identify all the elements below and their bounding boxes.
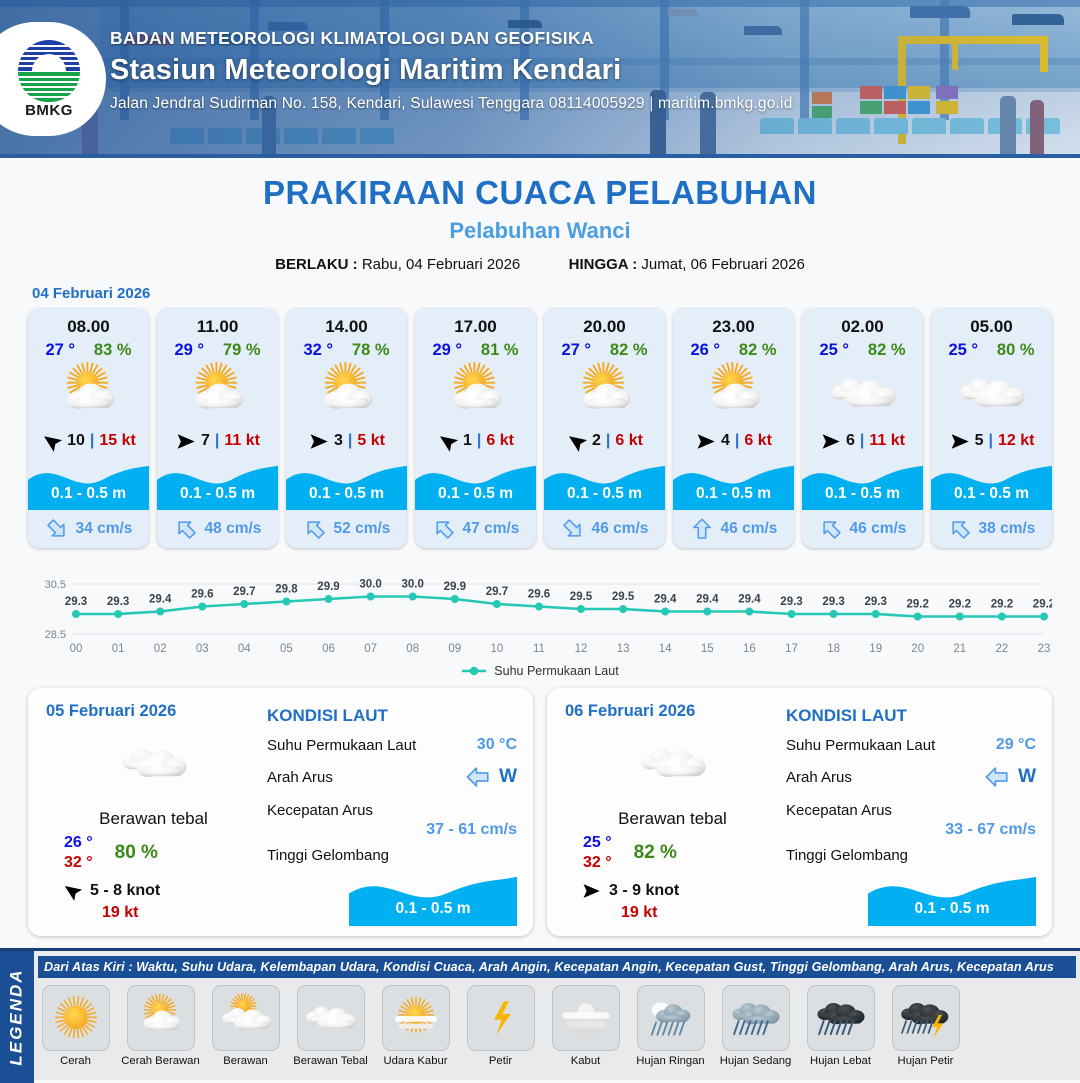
daily-summary-panel: 05 Februari 2026 Berawan tebal 26 (28, 688, 533, 936)
sst-chart: 30.528.529.30029.30129.40229.60329.70429… (28, 560, 1052, 660)
weather-udara-kabur-icon (382, 985, 450, 1051)
hourly-wind: 7 | 11 kt (157, 424, 278, 458)
hourly-card: 05.00 25 ° 80 % 5 (931, 308, 1052, 548)
svg-text:05: 05 (280, 643, 293, 655)
hourly-time: 14.00 (286, 308, 407, 337)
hourly-card: 11.00 29 ° 79 % 7 | 11 kt (157, 308, 278, 548)
wave-height-value: 0.1 - 0.5 m (28, 485, 149, 503)
bmkg-logo-text: BMKG (25, 102, 73, 119)
valid-from-label: BERLAKU : (275, 256, 358, 273)
legend-item-label: Hujan Petir (886, 1055, 965, 1067)
svg-text:29.3: 29.3 (107, 596, 129, 608)
hourly-current: 47 cm/s (415, 510, 536, 548)
hourly-wind: 2 | 6 kt (544, 424, 665, 458)
hourly-humidity: 83 % (94, 341, 132, 360)
wave-height-label: Tinggi Gelombang (267, 847, 389, 864)
validity-range: BERLAKU : Rabu, 04 Februari 2026 HINGGA … (0, 256, 1080, 273)
legend-item-label: Cerah (36, 1055, 115, 1067)
hourly-card: 08.00 27 ° 83 % 10 | 15 kt (28, 308, 149, 548)
summary-wind-speed: 5 - 8 knot (90, 882, 160, 900)
legend-item-label: Berawan Tebal (291, 1055, 370, 1067)
svg-text:03: 03 (196, 643, 209, 655)
wind-direction-value: 10 (67, 432, 85, 450)
hourly-wave: 0.1 - 0.5 m (802, 458, 923, 510)
hourly-card: 20.00 27 ° 82 % 2 | 6 kt (544, 308, 665, 548)
weather-condition-label: Berawan tebal (565, 809, 780, 829)
svg-text:01: 01 (112, 643, 125, 655)
legend-item-label: Hujan Ringan (631, 1055, 710, 1067)
hourly-current: 46 cm/s (673, 510, 794, 548)
svg-text:29.6: 29.6 (528, 589, 550, 601)
legend-item-label: Hujan Sedang (716, 1055, 795, 1067)
hourly-time: 17.00 (415, 308, 536, 337)
legend-item: Cerah Berawan (121, 985, 200, 1067)
title-section: PRAKIRAAN CUACA PELABUHAN Pelabuhan Wanc… (0, 158, 1080, 273)
svg-text:29.4: 29.4 (149, 594, 172, 606)
current-speed-value: 34 cm/s (76, 520, 133, 538)
sst-value: 29 °C (996, 736, 1036, 754)
legend-item: Hujan Sedang (716, 985, 795, 1067)
hourly-humidity: 82 % (868, 341, 906, 360)
weather-petir-icon (467, 985, 535, 1051)
weather-berawan-tebal-icon (46, 731, 261, 795)
svg-text:12: 12 (575, 643, 588, 655)
svg-text:17: 17 (785, 643, 798, 655)
wave-height-value: 0.1 - 0.5 m (157, 485, 278, 503)
svg-text:29.4: 29.4 (696, 594, 719, 606)
station-name: Stasiun Meteorologi Maritim Kendari (110, 54, 793, 87)
svg-text:16: 16 (743, 643, 756, 655)
gust-value: 6 kt (615, 432, 643, 450)
hourly-current: 46 cm/s (802, 510, 923, 548)
hourly-temperature: 26 ° (690, 341, 720, 360)
weather-hujan-lebat-icon (807, 985, 875, 1051)
hourly-wave: 0.1 - 0.5 m (157, 458, 278, 510)
gust-value: 11 kt (224, 432, 260, 450)
wind-separator: | (988, 432, 992, 450)
legend-section: LEGENDA Dari Atas Kiri : Waktu, Suhu Uda… (0, 948, 1080, 1080)
current-direction-arrow-icon (690, 517, 714, 541)
svg-text:29.2: 29.2 (907, 599, 929, 611)
legend-item: Hujan Ringan (631, 985, 710, 1067)
hourly-wind: 6 | 11 kt (802, 424, 923, 458)
chart-legend: Suhu Permukaan Laut (0, 664, 1080, 678)
port-name: Pelabuhan Wanci (0, 218, 1080, 244)
current-direction-arrow-icon (984, 764, 1010, 790)
svg-text:29.2: 29.2 (991, 599, 1013, 611)
wind-direction-arrow-icon (41, 431, 62, 452)
current-speed-label: Kecepatan Arus (267, 802, 373, 819)
wave-height-value: 0.1 - 0.5 m (415, 485, 536, 503)
weather-cerah-berawan-icon (415, 362, 536, 424)
hourly-current: 38 cm/s (931, 510, 1052, 548)
wind-direction-arrow-icon (581, 881, 601, 901)
weather-berawan-icon (212, 985, 280, 1051)
wind-direction-arrow-icon (820, 431, 841, 452)
legend-item: Udara Kabur (376, 985, 455, 1067)
current-speed-value: 33 - 67 cm/s (786, 821, 1036, 839)
svg-text:09: 09 (448, 643, 461, 655)
hourly-humidity: 82 % (739, 341, 777, 360)
wave-height-badge: 0.1 - 0.5 m (868, 870, 1036, 926)
svg-text:29.3: 29.3 (65, 596, 87, 608)
svg-text:29.5: 29.5 (570, 591, 593, 603)
current-speed-value: 37 - 61 cm/s (267, 821, 517, 839)
hourly-wind: 10 | 15 kt (28, 424, 149, 458)
wind-separator: | (735, 432, 739, 450)
svg-text:29.2: 29.2 (1033, 599, 1052, 611)
hourly-time: 23.00 (673, 308, 794, 337)
hourly-current: 46 cm/s (544, 510, 665, 548)
wave-height-label: Tinggi Gelombang (786, 847, 908, 864)
current-speed-value: 46 cm/s (721, 520, 778, 538)
current-direction-arrow-icon (432, 517, 456, 541)
summary-humidity: 80 % (115, 842, 158, 864)
wind-direction-arrow-icon (308, 431, 329, 452)
bmkg-logo-icon (18, 40, 80, 102)
hourly-wind: 1 | 6 kt (415, 424, 536, 458)
current-speed-value: 46 cm/s (592, 520, 649, 538)
wind-direction-value: 1 (463, 432, 472, 450)
gust-value: 6 kt (744, 432, 772, 450)
weather-cerah-berawan-icon (28, 362, 149, 424)
svg-text:06: 06 (322, 643, 335, 655)
svg-text:29.4: 29.4 (654, 594, 677, 606)
hourly-time: 08.00 (28, 308, 149, 337)
valid-until-label: HINGGA : (569, 256, 638, 273)
weather-hujan-ringan-icon (637, 985, 705, 1051)
legend-item: Petir (461, 985, 540, 1067)
hourly-temperature: 32 ° (303, 341, 333, 360)
hourly-humidity: 79 % (223, 341, 261, 360)
wave-height-value: 0.1 - 0.5 m (544, 485, 665, 503)
valid-from-value: Rabu, 04 Februari 2026 (362, 256, 520, 273)
hourly-wave: 0.1 - 0.5 m (673, 458, 794, 510)
page-header: BMKG BADAN METEOROLOGI KLIMATOLOGI DAN G… (0, 0, 1080, 158)
svg-text:29.3: 29.3 (780, 596, 802, 608)
hourly-temperature: 25 ° (819, 341, 849, 360)
wave-height-badge: 0.1 - 0.5 m (349, 870, 517, 926)
sst-value: 30 °C (477, 736, 517, 754)
hourly-wind: 5 | 12 kt (931, 424, 1052, 458)
svg-text:22: 22 (996, 643, 1009, 655)
wind-separator: | (860, 432, 864, 450)
wave-height-value: 0.1 - 0.5 m (673, 485, 794, 503)
gust-value: 6 kt (486, 432, 514, 450)
summary-date: 05 Februari 2026 (46, 702, 261, 721)
hourly-current: 48 cm/s (157, 510, 278, 548)
svg-text:19: 19 (869, 643, 882, 655)
summary-date: 06 Februari 2026 (565, 702, 780, 721)
sst-label: Suhu Permukaan Laut (786, 737, 935, 754)
summary-gust: 19 kt (46, 904, 261, 922)
current-direction-arrow-icon (561, 517, 585, 541)
current-speed-value: 48 cm/s (205, 520, 262, 538)
weather-hujan-sedang-icon (722, 985, 790, 1051)
hourly-card: 02.00 25 ° 82 % 6 (802, 308, 923, 548)
daily-summary-panel: 06 Februari 2026 Berawan tebal 25 (547, 688, 1052, 936)
wave-height-value: 0.1 - 0.5 m (802, 485, 923, 503)
wind-separator: | (90, 432, 94, 450)
legend-item-label: Cerah Berawan (121, 1055, 200, 1067)
legend-note: Dari Atas Kiri : Waktu, Suhu Udara, Kele… (38, 956, 1076, 978)
current-direction-arrow-icon (45, 517, 69, 541)
svg-text:29.2: 29.2 (949, 599, 971, 611)
hourly-temperature: 27 ° (45, 341, 75, 360)
gust-value: 12 kt (998, 432, 1034, 450)
current-direction-arrow-icon (948, 517, 972, 541)
wind-direction-value: 4 (721, 432, 730, 450)
hourly-temperature: 27 ° (561, 341, 591, 360)
svg-text:29.3: 29.3 (865, 596, 887, 608)
summary-temp-min: 25 ° (583, 833, 612, 853)
summary-wind-speed: 3 - 9 knot (609, 882, 679, 900)
legend-item-label: Hujan Lebat (801, 1055, 880, 1067)
svg-text:28.5: 28.5 (45, 629, 66, 641)
wind-direction-arrow-icon (175, 431, 196, 452)
wind-direction-value: 6 (846, 432, 855, 450)
current-speed-label: Kecepatan Arus (786, 802, 892, 819)
valid-until-value: Jumat, 06 Februari 2026 (641, 256, 804, 273)
svg-text:00: 00 (70, 643, 83, 655)
current-speed-value: 52 cm/s (334, 520, 391, 538)
svg-text:13: 13 (617, 643, 630, 655)
weather-cerah-berawan-icon (157, 362, 278, 424)
legend-item-label: Petir (461, 1055, 540, 1067)
hourly-wave: 0.1 - 0.5 m (415, 458, 536, 510)
chart-legend-label: Suhu Permukaan Laut (494, 664, 618, 678)
svg-text:15: 15 (701, 643, 714, 655)
weather-kabut-icon (552, 985, 620, 1051)
station-contact: Jalan Jendral Sudirman No. 158, Kendari,… (110, 95, 793, 113)
svg-text:29.5: 29.5 (612, 591, 635, 603)
wind-separator: | (215, 432, 219, 450)
hourly-time: 11.00 (157, 308, 278, 337)
hourly-card: 23.00 26 ° 82 % 4 | 6 kt (673, 308, 794, 548)
gust-value: 5 kt (357, 432, 385, 450)
wind-direction-value: 5 (975, 432, 984, 450)
wind-direction-arrow-icon (437, 431, 458, 452)
current-direction-label: Arah Arus (267, 769, 333, 786)
hourly-temperature: 29 ° (432, 341, 462, 360)
current-direction-label: Arah Arus (786, 769, 852, 786)
weather-cerah-berawan-icon (286, 362, 407, 424)
weather-berawan-tebal-icon (931, 362, 1052, 424)
weather-berawan-tebal-icon (802, 362, 923, 424)
hourly-wave: 0.1 - 0.5 m (931, 458, 1052, 510)
legend-icon-list: Cerah Cerah Berawan (36, 985, 1078, 1067)
wind-separator: | (477, 432, 481, 450)
current-speed-value: 46 cm/s (850, 520, 907, 538)
hourly-wave: 0.1 - 0.5 m (544, 458, 665, 510)
svg-text:29.8: 29.8 (275, 584, 298, 596)
svg-text:29.3: 29.3 (822, 596, 844, 608)
hourly-humidity: 80 % (997, 341, 1035, 360)
weather-cerah-berawan-icon (544, 362, 665, 424)
hourly-time: 05.00 (931, 308, 1052, 337)
hourly-humidity: 81 % (481, 341, 519, 360)
wind-separator: | (606, 432, 610, 450)
wave-height-value: 0.1 - 0.5 m (286, 485, 407, 503)
legend-item-label: Udara Kabur (376, 1055, 455, 1067)
hourly-wave: 0.1 - 0.5 m (28, 458, 149, 510)
svg-text:10: 10 (491, 643, 504, 655)
hourly-temperature: 29 ° (174, 341, 204, 360)
weather-berawan-tebal-icon (565, 731, 780, 795)
legend-item-label: Berawan (206, 1055, 285, 1067)
svg-text:29.9: 29.9 (444, 581, 466, 593)
svg-text:20: 20 (911, 643, 924, 655)
current-speed-value: 38 cm/s (979, 520, 1036, 538)
svg-text:29.9: 29.9 (317, 581, 339, 593)
wave-height-value: 0.1 - 0.5 m (931, 485, 1052, 503)
svg-text:30.0: 30.0 (402, 579, 424, 591)
sst-label: Suhu Permukaan Laut (267, 737, 416, 754)
legend-item: Kabut (546, 985, 625, 1067)
svg-text:29.6: 29.6 (191, 589, 213, 601)
svg-text:11: 11 (533, 643, 545, 655)
svg-text:29.7: 29.7 (486, 586, 508, 598)
legend-item: Cerah (36, 985, 115, 1067)
svg-text:18: 18 (827, 643, 840, 655)
hourly-temperature: 25 ° (948, 341, 978, 360)
summary-temp-min: 26 ° (64, 833, 93, 853)
daily-summary-row: 05 Februari 2026 Berawan tebal 26 (0, 678, 1080, 936)
gust-value: 11 kt (869, 432, 905, 450)
hourly-time: 20.00 (544, 308, 665, 337)
current-speed-value: 47 cm/s (463, 520, 520, 538)
hourly-humidity: 82 % (610, 341, 648, 360)
wind-direction-value: 3 (334, 432, 343, 450)
wind-direction-arrow-icon (62, 881, 82, 901)
summary-gust: 19 kt (565, 904, 780, 922)
summary-temp-max: 32 ° (583, 853, 612, 873)
svg-text:07: 07 (364, 643, 377, 655)
legend-item-label: Kabut (546, 1055, 625, 1067)
current-direction-arrow-icon (174, 517, 198, 541)
current-direction-value: W (499, 766, 517, 788)
weather-cerah-berawan-icon (127, 985, 195, 1051)
svg-text:08: 08 (406, 643, 419, 655)
svg-text:23: 23 (1038, 643, 1051, 655)
svg-text:02: 02 (154, 643, 167, 655)
wind-direction-value: 2 (592, 432, 601, 450)
hourly-card: 17.00 29 ° 81 % 1 | 6 kt (415, 308, 536, 548)
wind-direction-arrow-icon (695, 431, 716, 452)
agency-name: BADAN METEOROLOGI KLIMATOLOGI DAN GEOFIS… (110, 28, 793, 49)
svg-text:30.0: 30.0 (359, 579, 381, 591)
wind-direction-value: 7 (201, 432, 210, 450)
legend-side-label: LEGENDA (0, 951, 34, 1083)
page-title: PRAKIRAAN CUACA PELABUHAN (0, 174, 1080, 212)
legend-item: Berawan Tebal (291, 985, 370, 1067)
svg-text:21: 21 (953, 643, 966, 655)
current-direction-arrow-icon (465, 764, 491, 790)
hourly-time: 02.00 (802, 308, 923, 337)
svg-text:29.4: 29.4 (738, 594, 761, 606)
svg-text:04: 04 (238, 643, 251, 655)
hourly-card: 14.00 32 ° 78 % 3 | 5 kt (286, 308, 407, 548)
hourly-current: 34 cm/s (28, 510, 149, 548)
hourly-forecast-row: 08.00 27 ° 83 % 10 | 15 kt (0, 302, 1080, 548)
gust-value: 15 kt (99, 432, 135, 450)
hourly-wind: 4 | 6 kt (673, 424, 794, 458)
weather-berawan-tebal-icon (297, 985, 365, 1051)
chart-legend-marker-icon (461, 665, 487, 677)
summary-humidity: 82 % (634, 842, 677, 864)
legend-item: Hujan Petir (886, 985, 965, 1067)
svg-text:29.7: 29.7 (233, 586, 255, 598)
weather-cerah-berawan-icon (673, 362, 794, 424)
wind-direction-arrow-icon (949, 431, 970, 452)
wind-direction-arrow-icon (566, 431, 587, 452)
current-direction-arrow-icon (819, 517, 843, 541)
wind-separator: | (348, 432, 352, 450)
svg-text:30.5: 30.5 (45, 579, 66, 591)
current-direction-value: W (1018, 766, 1036, 788)
wave-height-value: 0.1 - 0.5 m (868, 900, 1036, 918)
svg-text:14: 14 (659, 643, 672, 655)
sea-condition-title: KONDISI LAUT (786, 706, 1036, 726)
hourly-wave: 0.1 - 0.5 m (286, 458, 407, 510)
hourly-wind: 3 | 5 kt (286, 424, 407, 458)
sea-condition-title: KONDISI LAUT (267, 706, 517, 726)
legend-item: Berawan (206, 985, 285, 1067)
weather-condition-label: Berawan tebal (46, 809, 261, 829)
legend-item: Hujan Lebat (801, 985, 880, 1067)
hourly-humidity: 78 % (352, 341, 390, 360)
summary-temp-max: 32 ° (64, 853, 93, 873)
current-direction-arrow-icon (303, 517, 327, 541)
forecast-day-label: 04 Februari 2026 (32, 285, 1080, 302)
hourly-current: 52 cm/s (286, 510, 407, 548)
wave-height-value: 0.1 - 0.5 m (349, 900, 517, 918)
weather-cerah-icon (42, 985, 110, 1051)
weather-hujan-petir-icon (892, 985, 960, 1051)
